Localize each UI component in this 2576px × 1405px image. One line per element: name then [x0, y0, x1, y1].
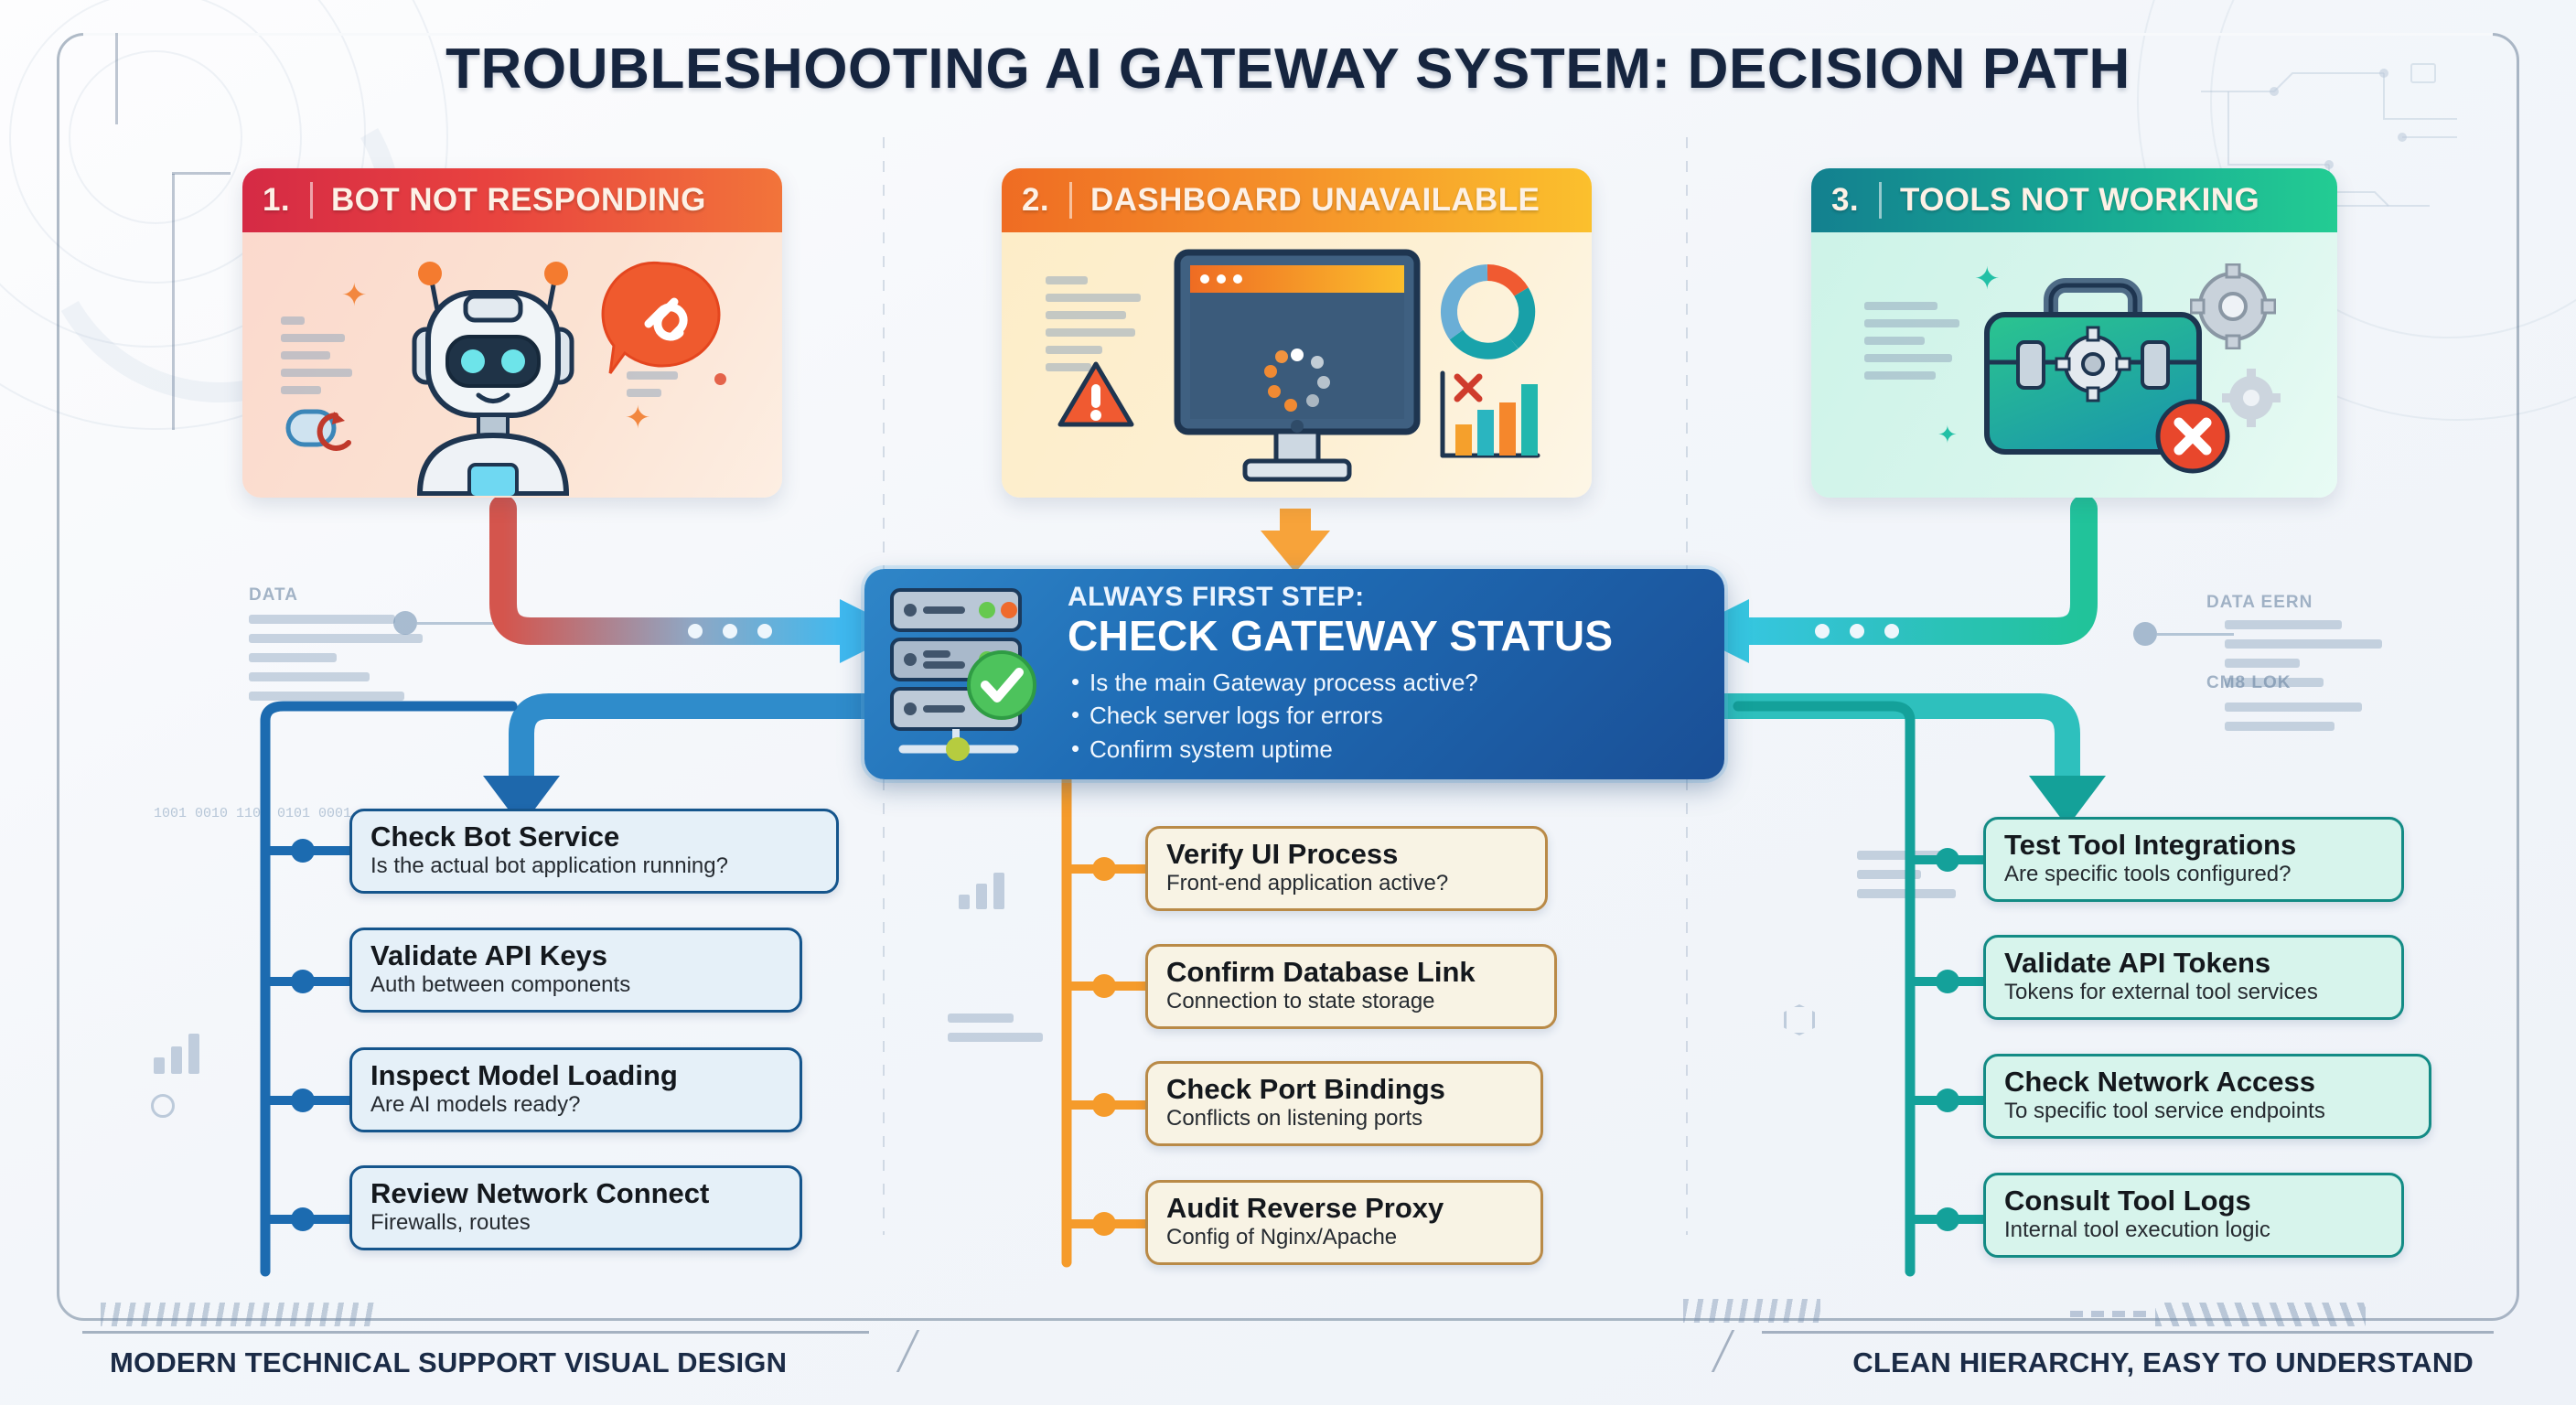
step-consult-tool-logs[interactable]: Consult Tool Logs Internal tool executio…	[1983, 1173, 2404, 1258]
step-node	[1092, 974, 1116, 998]
footer-rule	[1762, 1331, 2494, 1334]
arrow-gateway-to-left-column	[521, 706, 864, 779]
decor-dot	[714, 373, 726, 385]
decor-bars	[2225, 702, 2408, 741]
decor-label-cm8-lok: CM8 LOK	[2206, 673, 2292, 693]
step-check-port-bindings[interactable]: Check Port Bindings Conflicts on listeni…	[1145, 1061, 1543, 1146]
page-title: TROUBLESHOOTING AI GATEWAY SYSTEM: DECIS…	[0, 37, 2576, 102]
gateway-title: CHECK GATEWAY STATUS	[1068, 615, 1613, 659]
sparkle-icon: ✦	[341, 280, 368, 311]
decor-label-data-eern: DATA EERN	[2206, 593, 2313, 613]
gateway-status-box[interactable]: ALWAYS FIRST STEP: CHECK GATEWAY STATUS …	[864, 569, 1724, 779]
step-test-tool-integrations[interactable]: Test Tool Integrations Are specific tool…	[1983, 817, 2404, 902]
step-check-bot-service[interactable]: Check Bot Service Is the actual bot appl…	[349, 809, 839, 894]
step-subtitle: Tokens for external tool services	[2004, 980, 2383, 1005]
step-title: Confirm Database Link	[1166, 956, 1536, 988]
gateway-bullet: Check server logs for errors	[1068, 699, 1613, 733]
footer-rule	[82, 1331, 869, 1334]
broken-chain-icon	[281, 404, 381, 452]
step-verify-ui-process[interactable]: Verify UI Process Front-end application …	[1145, 826, 1548, 911]
step-subtitle: Are specific tools configured?	[2004, 862, 2383, 887]
decorative-hatching	[2155, 1303, 2366, 1326]
decor-connector-dot	[2133, 622, 2234, 646]
card-label: BOT NOT RESPONDING	[331, 182, 706, 219]
step-subtitle: Front-end application active?	[1166, 871, 1527, 896]
arrow-card3-to-gateway	[1743, 509, 2084, 631]
card-header: 3. TOOLS NOT WORKING	[1811, 168, 2337, 232]
bar-chart-icon	[1435, 368, 1543, 465]
step-subtitle: Connection to state storage	[1166, 989, 1536, 1014]
step-node	[1092, 1212, 1116, 1236]
step-audit-reverse-proxy[interactable]: Audit Reverse Proxy Config of Nginx/Apac…	[1145, 1180, 1543, 1265]
step-node	[1936, 1207, 1959, 1231]
broken-link-bubble-icon	[597, 260, 725, 377]
decor-connector-dot	[393, 611, 576, 635]
step-node	[1092, 857, 1116, 881]
card-label: DASHBOARD UNAVAILABLE	[1090, 182, 1540, 219]
step-title: Inspect Model Loading	[370, 1059, 781, 1091]
frame-tick	[172, 172, 231, 175]
step-node	[1092, 1093, 1116, 1117]
gear-icon	[2190, 263, 2276, 349]
error-badge-icon	[2152, 395, 2234, 477]
decorative-dashes	[2070, 1311, 2146, 1317]
step-title: Check Network Access	[2004, 1066, 2410, 1098]
step-node	[291, 1089, 315, 1112]
step-validate-api-keys[interactable]: Validate API Keys Auth between component…	[349, 928, 802, 1013]
step-subtitle: Internal tool execution logic	[2004, 1217, 2383, 1243]
decor-binary-text: 1001 0010 1100 0101 0001	[154, 805, 351, 823]
footer-caption-left: MODERN TECHNICAL SUPPORT VISUAL DESIGN	[110, 1346, 787, 1379]
step-node	[1936, 848, 1959, 872]
gateway-bullet: Is the main Gateway process active?	[1068, 666, 1613, 700]
step-node	[291, 1207, 315, 1231]
skeleton-lines	[627, 371, 709, 406]
step-subtitle: To specific tool service endpoints	[2004, 1099, 2410, 1124]
card-illustration-robot: ✦ ✦	[242, 232, 782, 498]
card-label: TOOLS NOT WORKING	[1900, 182, 2259, 219]
arrow-gateway-to-right-column	[1724, 706, 2067, 779]
card-number: 3.	[1831, 182, 1882, 219]
decor-label-data: DATA	[249, 585, 298, 606]
step-review-network-connect[interactable]: Review Network Connect Firewalls, routes	[349, 1165, 802, 1250]
warning-triangle-icon	[1057, 360, 1135, 430]
decor-mini-bars	[959, 867, 1004, 909]
step-title: Validate API Tokens	[2004, 947, 2383, 979]
step-title: Validate API Keys	[370, 939, 781, 971]
card-number: 2.	[1022, 182, 1072, 219]
card-number: 1.	[263, 182, 313, 219]
sparkle-icon: ✦	[1937, 423, 1958, 446]
decor-mini-bars	[154, 1026, 199, 1074]
step-confirm-database-link[interactable]: Confirm Database Link Connection to stat…	[1145, 944, 1557, 1029]
step-title: Audit Reverse Proxy	[1166, 1192, 1522, 1224]
frame-tick	[172, 174, 175, 430]
footer-caption-right: CLEAN HIERARCHY, EASY TO UNDERSTAND	[1852, 1346, 2474, 1379]
decor-hexagon	[1784, 1004, 1815, 1035]
decor-circle	[151, 1094, 175, 1118]
step-title: Review Network Connect	[370, 1177, 781, 1209]
skeleton-lines	[281, 316, 354, 403]
step-title: Check Bot Service	[370, 820, 818, 853]
decorative-hatching	[101, 1303, 375, 1326]
step-node	[1936, 1089, 1959, 1112]
problem-card-tools-not-working[interactable]: 3. TOOLS NOT WORKING ✦ ✦	[1811, 168, 2337, 498]
step-subtitle: Conflicts on listening ports	[1166, 1106, 1522, 1132]
decor-bars	[948, 1014, 1048, 1052]
step-subtitle: Config of Nginx/Apache	[1166, 1225, 1522, 1250]
step-title: Consult Tool Logs	[2004, 1185, 2383, 1217]
decorative-hatching	[1683, 1299, 1820, 1323]
robot-icon	[378, 249, 625, 496]
gateway-eyebrow: ALWAYS FIRST STEP:	[1068, 582, 1613, 613]
donut-chart-icon	[1437, 262, 1538, 360]
problem-card-bot-not-responding[interactable]: 1. BOT NOT RESPONDING ✦ ✦	[242, 168, 782, 498]
server-rack-icon	[881, 583, 1055, 766]
step-subtitle: Auth between components	[370, 972, 781, 998]
step-node	[291, 970, 315, 993]
step-check-network-access[interactable]: Check Network Access To specific tool se…	[1983, 1054, 2431, 1139]
step-subtitle: Is the actual bot application running?	[370, 853, 818, 879]
step-subtitle: Are AI models ready?	[370, 1092, 781, 1118]
card-header: 2. DASHBOARD UNAVAILABLE	[1002, 168, 1592, 232]
step-title: Test Tool Integrations	[2004, 829, 2383, 861]
sparkle-icon: ✦	[625, 402, 651, 434]
card-header: 1. BOT NOT RESPONDING	[242, 168, 782, 232]
card-illustration-toolbox: ✦ ✦	[1811, 232, 2337, 498]
step-node	[1936, 970, 1959, 993]
step-title: Verify UI Process	[1166, 838, 1527, 870]
step-validate-api-tokens[interactable]: Validate API Tokens Tokens for external …	[1983, 935, 2404, 1020]
step-title: Check Port Bindings	[1166, 1073, 1522, 1105]
skeleton-lines	[1864, 302, 1965, 389]
arrowhead-card2	[1261, 531, 1330, 573]
step-inspect-model-loading[interactable]: Inspect Model Loading Are AI models read…	[349, 1047, 802, 1132]
card-illustration-dashboard	[1002, 232, 1592, 498]
gateway-bullet: Confirm system uptime	[1068, 733, 1613, 767]
gateway-checklist: Is the main Gateway process active? Chec…	[1068, 666, 1613, 767]
step-node	[291, 839, 315, 863]
monitor-icon	[1174, 247, 1421, 488]
step-subtitle: Firewalls, routes	[370, 1210, 781, 1236]
problem-card-dashboard-unavailable[interactable]: 2. DASHBOARD UNAVAILABLE	[1002, 168, 1592, 498]
